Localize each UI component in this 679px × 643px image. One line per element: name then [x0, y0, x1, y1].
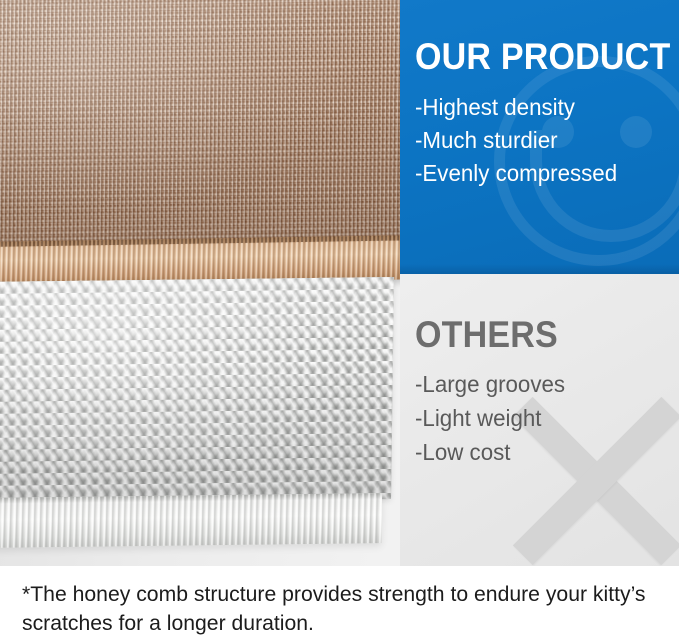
- others-bullet-1: -Large grooves: [415, 367, 671, 401]
- top-product-shading: [0, 0, 424, 248]
- our-product-heading: OUR PRODUCT: [415, 38, 658, 75]
- our-product-bullet-1: -Highest density: [415, 91, 671, 124]
- footnote-caption: *The honey comb structure provides stren…: [0, 566, 679, 643]
- our-product-content: OUR PRODUCT -Highest density -Much sturd…: [400, 0, 679, 190]
- others-panel: OTHERS -Large grooves -Light weight -Low…: [400, 274, 679, 566]
- others-bullet-3: -Low cost: [415, 435, 671, 469]
- others-bullet-2: -Light weight: [415, 401, 671, 435]
- comparison-poster: OUR PRODUCT -Highest density -Much sturd…: [0, 0, 679, 643]
- others-content: OTHERS -Large grooves -Light weight -Low…: [400, 274, 679, 469]
- caption-text: *The honey comb structure provides stren…: [22, 580, 647, 638]
- our-product-bullet-3: -Evenly compressed: [415, 157, 671, 190]
- others-heading: OTHERS: [415, 316, 658, 353]
- others-bullet-list: -Large grooves -Light weight -Low cost: [415, 367, 679, 469]
- our-product-panel: OUR PRODUCT -Highest density -Much sturd…: [400, 0, 679, 274]
- our-product-bullet-2: -Much sturdier: [415, 124, 671, 157]
- bottom-product-surface: [0, 277, 394, 504]
- top-product-surface: [0, 0, 424, 248]
- bottom-product-front-edge: [0, 493, 382, 548]
- bottom-product-shading: [0, 277, 394, 504]
- our-product-bullet-list: -Highest density -Much sturdier -Evenly …: [415, 91, 679, 190]
